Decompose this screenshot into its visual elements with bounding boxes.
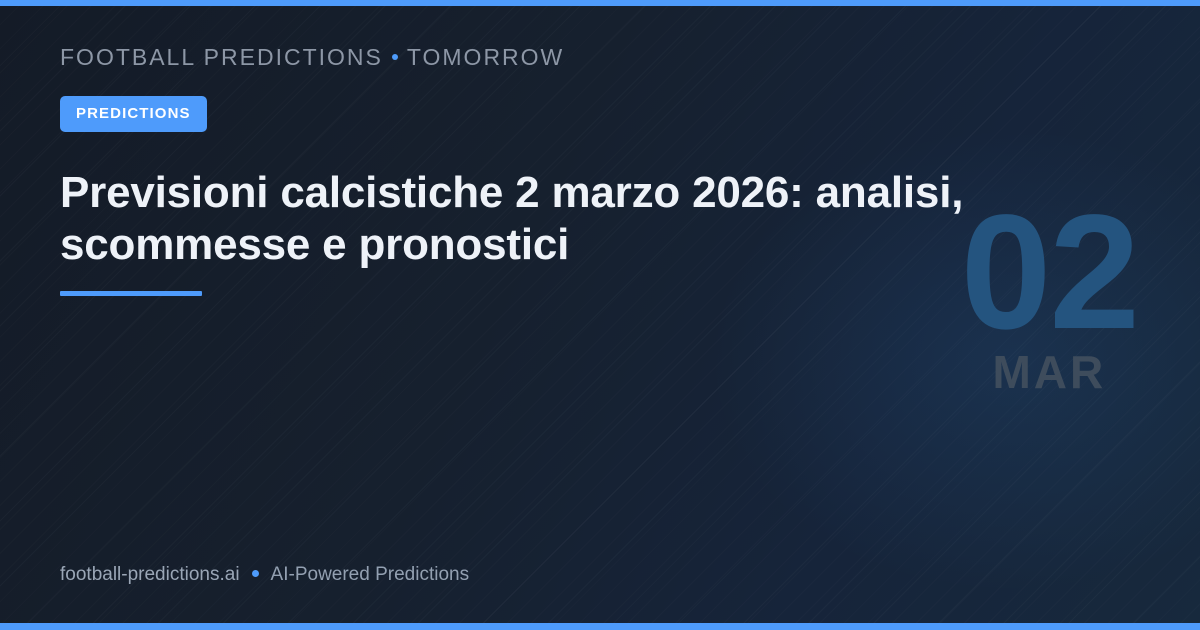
site-tagline-label: AI-Powered Predictions xyxy=(271,564,470,585)
category-badge[interactable]: PREDICTIONS xyxy=(60,96,207,132)
kicker-secondary-label: TOMORROW xyxy=(407,44,564,70)
site-domain-label: football-predictions.ai xyxy=(60,564,240,585)
kicker-line: FOOTBALL PREDICTIONSTOMORROW xyxy=(60,46,564,69)
footer-bullet-separator-icon xyxy=(252,570,259,577)
og-share-card: 02 MAR FOOTBALL PREDICTIONSTOMORROW PRED… xyxy=(0,0,1200,630)
kicker-primary-label: FOOTBALL PREDICTIONS xyxy=(60,44,383,70)
content-column: FOOTBALL PREDICTIONSTOMORROW PREDICTIONS… xyxy=(60,0,1140,630)
bullet-separator-icon xyxy=(392,54,398,60)
footer-line: football-predictions.aiAI-Powered Predic… xyxy=(60,565,469,584)
page-title: Previsioni calcistiche 2 marzo 2026: ana… xyxy=(60,167,990,270)
title-underline-rule xyxy=(60,291,202,296)
